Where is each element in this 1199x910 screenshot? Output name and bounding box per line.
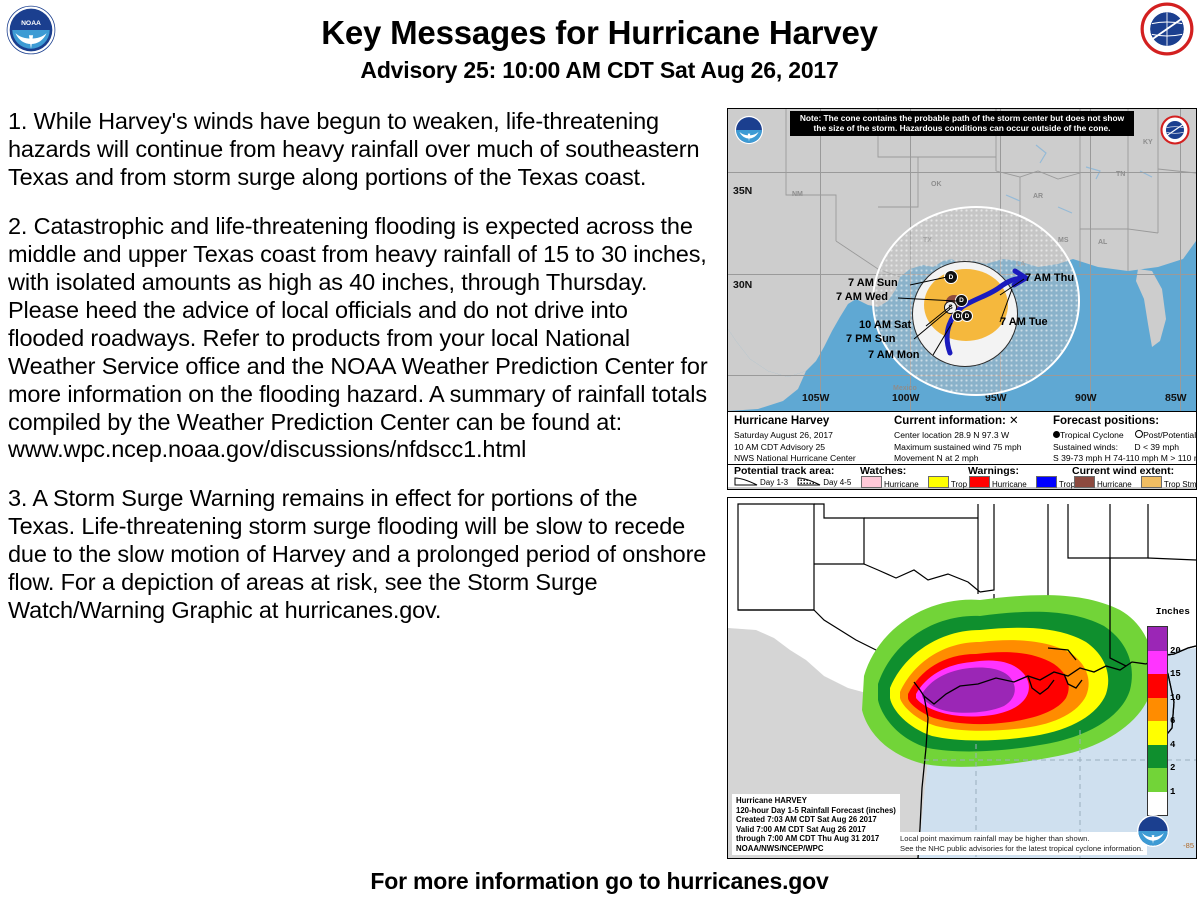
colorbar-tick-4: 4 bbox=[1170, 740, 1175, 750]
noaa-logo-icon bbox=[734, 115, 764, 145]
current-information-column: Current information: ✕ Center location 2… bbox=[894, 414, 1022, 465]
wind-hurricane-swatch bbox=[1074, 476, 1095, 488]
current-wind-extent-legend: Hurricane Trop Stm bbox=[1074, 476, 1197, 490]
rainfall-disclaimer: Local point maximum rainfall may be high… bbox=[896, 832, 1147, 855]
colorbar-segment-under-1 bbox=[1148, 792, 1167, 816]
key-message-1: 1. While Harvey's winds have begun to we… bbox=[8, 108, 708, 192]
watch-tropstm-swatch bbox=[928, 476, 949, 488]
nws-logo-icon bbox=[1160, 115, 1190, 145]
noaa-logo-icon bbox=[1136, 814, 1170, 848]
current-information-heading: Current information: ✕ bbox=[894, 414, 1022, 429]
warn-hurricane-label: Hurricane bbox=[992, 480, 1027, 489]
max-sustained-wind: Maximum sustained wind 75 mph bbox=[894, 442, 1022, 453]
colorbar-tick-10: 10 bbox=[1170, 693, 1181, 703]
track-cone-day45-icon bbox=[797, 476, 821, 487]
wind-tropstm-label: Trop Stm bbox=[1164, 480, 1197, 489]
caption-line: 120-hour Day 1-5 Rainfall Forecast (inch… bbox=[736, 806, 896, 816]
forecast-label-7am-thu: 7 AM Thu bbox=[1025, 272, 1074, 284]
page-header: NOAA Key Messages for Hurricane Harvey A… bbox=[0, 0, 1199, 95]
colorbar-segment-6-10 bbox=[1148, 698, 1167, 722]
key-message-2: 2. Catastrophic and life-threatening flo… bbox=[8, 213, 708, 465]
storm-name: Hurricane Harvey bbox=[734, 414, 856, 429]
wind-hurricane-label: Hurricane bbox=[1097, 480, 1132, 489]
center-location: Center location 28.9 N 97.3 W bbox=[894, 430, 1022, 441]
rainfall-forecast-map[interactable]: Inches 20 15 10 6 4 2 1 Hurricane HARVEY… bbox=[727, 497, 1197, 859]
rain-map-lon-label: -85 bbox=[1183, 841, 1194, 850]
forecast-symbol-row: Tropical Cyclone Post/Potential TC bbox=[1053, 430, 1197, 441]
warn-tropstm-swatch bbox=[1036, 476, 1057, 488]
forecast-cone-map[interactable]: 35N 30N NM OK AR TN KY MS AL LA TX Mexic… bbox=[727, 108, 1197, 490]
potential-track-area-legend: Day 1-3 Day 4-5 bbox=[734, 476, 858, 489]
storm-advisory: 10 AM CDT Advisory 25 bbox=[734, 442, 856, 453]
colorbar-segment-4-6 bbox=[1148, 721, 1167, 745]
colorbar-segment-1-2 bbox=[1148, 768, 1167, 792]
colorbar-segment-2-4 bbox=[1148, 745, 1167, 769]
disclaimer-line: Local point maximum rainfall may be high… bbox=[900, 834, 1143, 843]
filled-circle-icon bbox=[1053, 431, 1060, 438]
caption-line: through 7:00 AM CDT Thu Aug 31 2017 bbox=[736, 834, 896, 844]
colorbar-tick-2: 2 bbox=[1170, 763, 1175, 773]
forecast-label-7am-tue: 7 AM Tue bbox=[1000, 316, 1048, 328]
caption-line: Valid 7:00 AM CDT Sat Aug 26 2017 bbox=[736, 825, 896, 835]
sustained-winds-label: Sustained winds: bbox=[1053, 442, 1118, 452]
colorbar-segment-10-15 bbox=[1148, 674, 1167, 698]
caption-line: Created 7:03 AM CDT Sat Aug 26 2017 bbox=[736, 815, 896, 825]
colorbar-title: Inches bbox=[1156, 606, 1190, 617]
rainfall-caption: Hurricane HARVEY 120-hour Day 1-5 Rainfa… bbox=[732, 794, 900, 855]
colorbar-segment-15-20 bbox=[1148, 651, 1167, 675]
wind-tropstm-swatch bbox=[1141, 476, 1162, 488]
wind-category-d: D < 39 mph bbox=[1134, 442, 1179, 452]
forecast-label-10am-sat: 10 AM Sat bbox=[859, 319, 911, 331]
storm-agency: NWS National Hurricane Center bbox=[734, 453, 856, 464]
forecast-label-7am-sun: 7 AM Sun bbox=[848, 277, 898, 289]
storm-movement: Movement N at 2 mph bbox=[894, 453, 1022, 464]
storm-date: Saturday August 26, 2017 bbox=[734, 430, 856, 441]
track-day45-label: Day 4-5 bbox=[823, 478, 851, 487]
current-information-label: Current information: bbox=[894, 415, 1006, 427]
open-circle-icon bbox=[1135, 430, 1143, 438]
caption-line: Hurricane HARVEY bbox=[736, 796, 896, 806]
watch-hurricane-swatch bbox=[861, 476, 882, 488]
caption-line: NOAA/NWS/NCEP/WPC bbox=[736, 844, 896, 854]
watch-hurricane-label: Hurricane bbox=[884, 480, 919, 489]
track-day13-label: Day 1-3 bbox=[760, 478, 788, 487]
storm-info-column: Hurricane Harvey Saturday August 26, 201… bbox=[734, 414, 856, 465]
warn-hurricane-swatch bbox=[969, 476, 990, 488]
key-message-3: 3. A Storm Surge Warning remains in effe… bbox=[8, 485, 708, 625]
forecast-positions-heading: Forecast positions: bbox=[1053, 414, 1197, 429]
colorbar-tick-20: 20 bbox=[1170, 646, 1181, 656]
track-cone-day13-icon bbox=[734, 476, 758, 487]
tropical-cyclone-label: Tropical Cyclone bbox=[1060, 430, 1124, 440]
forecast-label-7pm-sun: 7 PM Sun bbox=[846, 333, 896, 345]
rainfall-colorbar: 20 15 10 6 4 2 1 bbox=[1147, 626, 1168, 816]
disclaimer-line: See the NHC public advisories for the la… bbox=[900, 844, 1143, 853]
sustained-winds-row: Sustained winds: D < 39 mph bbox=[1053, 442, 1197, 453]
label-leader-lines bbox=[728, 109, 1196, 411]
page-subtitle: Advisory 25: 10:00 AM CDT Sat Aug 26, 20… bbox=[0, 57, 1199, 84]
wind-scale-row: S 39-73 mph H 74-110 mph M > 110 mph bbox=[1053, 453, 1197, 464]
cone-note-banner: Note: The cone contains the probable pat… bbox=[790, 111, 1134, 136]
page-title: Key Messages for Hurricane Harvey bbox=[0, 14, 1199, 52]
post-potential-tc-label: Post/Potential TC bbox=[1143, 430, 1197, 440]
key-messages-list: 1. While Harvey's winds have begun to we… bbox=[8, 108, 708, 625]
center-x-icon: ✕ bbox=[1009, 415, 1019, 427]
cone-map-canvas: 35N 30N NM OK AR TN KY MS AL LA TX Mexic… bbox=[728, 109, 1196, 411]
cone-map-info-panel: Hurricane Harvey Saturday August 26, 201… bbox=[728, 411, 1196, 487]
colorbar-tick-1: 1 bbox=[1170, 787, 1175, 797]
forecast-positions-column: Forecast positions: Tropical Cyclone Pos… bbox=[1053, 414, 1197, 465]
colorbar-tick-15: 15 bbox=[1170, 669, 1181, 679]
page-footer: For more information go to hurricanes.go… bbox=[0, 868, 1199, 895]
forecast-label-7am-mon: 7 AM Mon bbox=[868, 349, 920, 361]
colorbar-segment-over-20 bbox=[1148, 627, 1167, 651]
forecast-label-7am-wed: 7 AM Wed bbox=[836, 291, 888, 303]
colorbar-tick-6: 6 bbox=[1170, 716, 1175, 726]
